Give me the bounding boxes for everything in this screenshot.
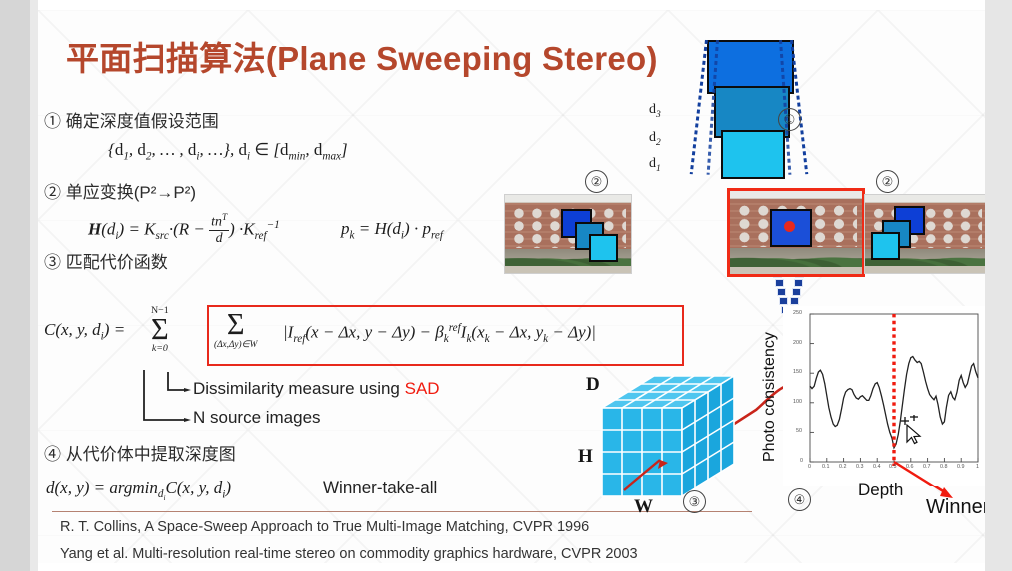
marker-3-cube: ③: [683, 490, 706, 513]
marker-1-frustum: ①: [778, 108, 801, 131]
cube-label-height: H: [578, 446, 593, 468]
step-3-heading: ③ 匹配代价函数: [44, 248, 168, 273]
source-view-right-photo: [864, 194, 985, 274]
chart-ytick-50: 50: [796, 428, 802, 434]
annotation-sad-label: SAD: [405, 379, 440, 398]
chart-xtick-5: 0.5: [889, 464, 897, 470]
chart-xtick-0: 0: [808, 464, 811, 470]
chart-xtick-8: 0.8: [940, 464, 948, 470]
patch-plane-d1-right: [871, 232, 900, 260]
formula-cost-sum-window: Σ (Δx,Δy)∈W: [214, 309, 257, 350]
formula-cost-sum-k: N−1 Σ k=0: [151, 306, 169, 354]
cube-label-width: W: [634, 496, 653, 518]
photo-ground: [730, 267, 862, 274]
chart-y-axis-label: Photo consistency: [761, 332, 779, 462]
annotation-dissimilarity-text: Dissimilarity measure using: [193, 379, 405, 398]
formula-homography: H(di) = Ksrc·(R − tnT d) ·Kref−1: [88, 213, 280, 247]
step-4-heading: ④ 从代价体中提取深度图: [44, 440, 236, 465]
reference-item-1: R. T. Collins, A Space-Sweep Approach to…: [60, 519, 589, 535]
chart-winner-label: Winner: [926, 496, 985, 519]
chart-ytick-200: 200: [793, 340, 802, 346]
chart-svg: [783, 306, 985, 486]
formula-point-mapping: pk = H(di) · pref: [341, 219, 443, 241]
chart-xtick-1: 0.1: [822, 464, 830, 470]
depth-label-d2: d2: [649, 130, 661, 148]
patch-plane-d1-left: [589, 234, 618, 262]
source-view-left-photo: [504, 194, 632, 274]
presentation-frame: 平面扫描算法(Plane Sweeping Stereo) ① 确定深度值假设范…: [0, 0, 1012, 571]
depth-label-d3: d3: [649, 102, 661, 120]
mouse-cursor: [898, 415, 926, 445]
cube-label-depth: D: [586, 374, 600, 396]
slide-canvas: 平面扫描算法(Plane Sweeping Stereo) ① 确定深度值假设范…: [38, 10, 985, 563]
chart-ytick-150: 150: [793, 369, 802, 375]
chart-ytick-0: 0: [800, 458, 803, 464]
photo-consistency-chart: 0 50 100 150 200 250 0 0.1 0.2 0.3 0.4 0…: [783, 306, 985, 486]
chart-ytick-250: 250: [793, 310, 802, 316]
formula-cost-lhs: C(x, y, di) =: [44, 320, 125, 342]
chart-xtick-9: 0.9: [957, 464, 965, 470]
chart-x-axis-label: Depth: [858, 480, 903, 500]
marker-4-chart: ④: [788, 488, 811, 511]
cost-volume-cube: D H W: [556, 368, 746, 518]
marker-2-left-view: ②: [585, 170, 608, 193]
reference-item-2: Yang et al. Multi-resolution real-time s…: [60, 546, 638, 562]
chart-xtick-7: 0.7: [923, 464, 931, 470]
chart-xtick-4: 0.4: [873, 464, 881, 470]
page-title: 平面扫描算法(Plane Sweeping Stereo): [66, 32, 658, 80]
step-1-heading: ① 确定深度值假设范围: [44, 107, 219, 132]
chart-xtick-2: 0.2: [839, 464, 847, 470]
chart-xtick-10: 1: [976, 464, 979, 470]
annotation-n-source-images: N source images: [193, 408, 321, 428]
label-winner-take-all: Winner-take-all: [323, 478, 437, 498]
annotation-dissimilarity: Dissimilarity measure using SAD: [193, 379, 440, 399]
chart-xtick-3: 0.3: [856, 464, 864, 470]
frustum-edge-dotted-right: [790, 40, 808, 174]
depth-label-d1: d1: [649, 156, 661, 174]
chart-ytick-100: 100: [793, 399, 802, 405]
frustum-edge-dotted-left: [690, 40, 708, 174]
depth-plane-frustum: [668, 28, 848, 228]
formula-cost-body: |Iref(x − Δx, y − Δy) − βkrefIk(xk − Δx,…: [283, 322, 596, 345]
chart-xtick-6: 0.6: [906, 464, 914, 470]
formula-argmin: d(x, y) = argmindiC(x, y, di): [46, 478, 231, 503]
formula-depth-set: {d1, d2, … , di, …}, di ∈ [dmin, dmax]: [108, 140, 348, 162]
depth-plane-d1: [721, 130, 785, 179]
step-2-heading: ② 单应变换(P²→P²): [44, 178, 196, 203]
marker-2-right-view: ②: [876, 170, 899, 193]
